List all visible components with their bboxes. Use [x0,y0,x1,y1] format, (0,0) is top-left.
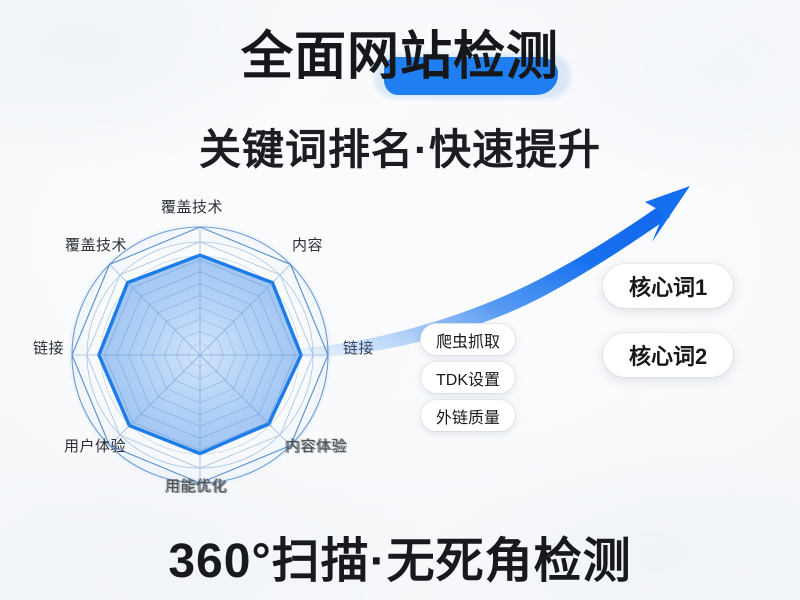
radar-label-upper-left: 覆盖技术 [65,234,127,255]
radar-label-upper-right: 内容 [292,234,323,255]
feature-pill-backlink-label: 外链质量 [436,404,500,428]
headline-text: 全面网站检测 [241,28,559,86]
feature-pill-crawl[interactable]: 爬虫抓取 [421,324,515,355]
radar-label-lower-right: 内容体验 [285,435,347,456]
radar-chart: 覆盖技术 内容 链接 内容体验 用能优化 用户体验 链接 覆盖技术 [20,190,420,510]
feature-pill-crawl-label: 爬虫抓取 [436,328,500,352]
radar-label-top: 覆盖技术 [161,196,223,217]
keyword-pill-2-label: 核心词2 [629,339,707,371]
radar-label-right: 链接 [343,337,374,358]
footer-text: 360°扫描·无死角检测 [168,521,631,591]
headline: 全面网站检测 [241,30,559,85]
poster-canvas: 全面网站检测 关键词排名·快速提升 [0,0,800,600]
arrow-head [645,186,690,242]
feature-pill-tdk[interactable]: TDK设置 [421,362,515,393]
keyword-pill-1-label: 核心词1 [629,270,707,302]
subheadline-text: 关键词排名·快速提升 [199,116,601,177]
keyword-pill-2[interactable]: 核心词2 [603,333,733,377]
footer-container: 360°扫描·无死角检测 [0,521,800,591]
radar-label-lower-left: 用户体验 [64,435,126,456]
radar-label-bottom: 用能优化 [165,475,227,496]
radar-label-left: 链接 [33,337,64,358]
keyword-pill-1[interactable]: 核心词1 [603,264,733,308]
subheadline-container: 关键词排名·快速提升 [0,116,800,177]
feature-pill-backlink[interactable]: 外链质量 [421,400,515,431]
headline-container: 全面网站检测 [0,30,800,85]
feature-pill-tdk-label: TDK设置 [436,366,500,390]
radar-inner-axis-lines [98,253,302,457]
